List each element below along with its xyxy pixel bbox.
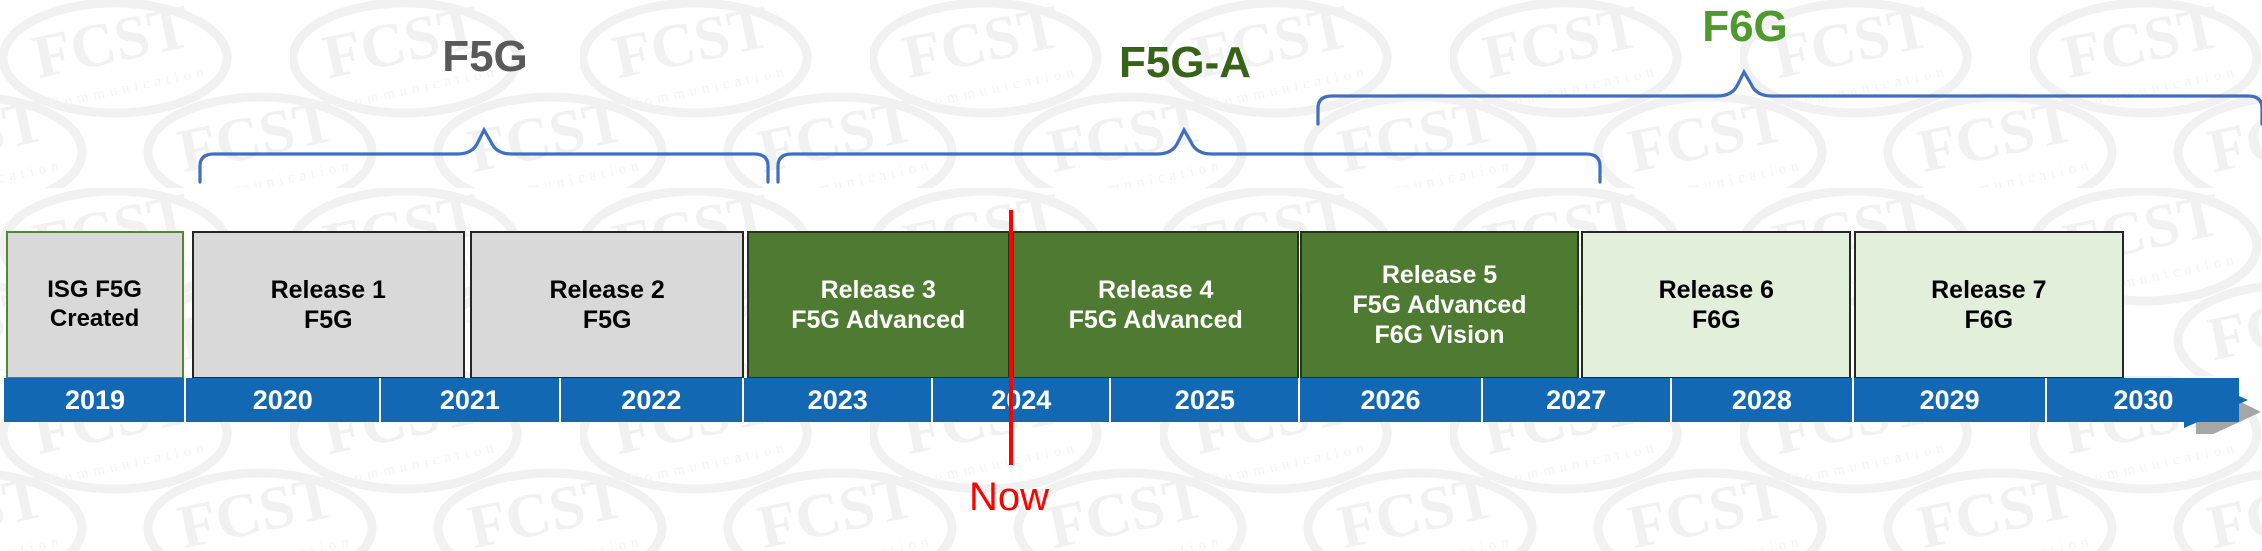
brace-f5g: [200, 130, 768, 182]
timeline-diagram: FCST Communication F5G F5G-A F6G: [0, 0, 2262, 551]
era-label-f5g-a-text: F5G-A: [1119, 38, 1251, 87]
now-label: Now: [889, 475, 1129, 520]
era-label-f6g-text: F6G: [1702, 2, 1788, 51]
brace-f5g-a: [778, 130, 1600, 182]
now-line: [1009, 210, 1013, 465]
era-label-f6g: F6G: [1245, 2, 2245, 52]
now-label-text: Now: [969, 475, 1049, 519]
era-label-f5g-text: F5G: [442, 32, 528, 81]
